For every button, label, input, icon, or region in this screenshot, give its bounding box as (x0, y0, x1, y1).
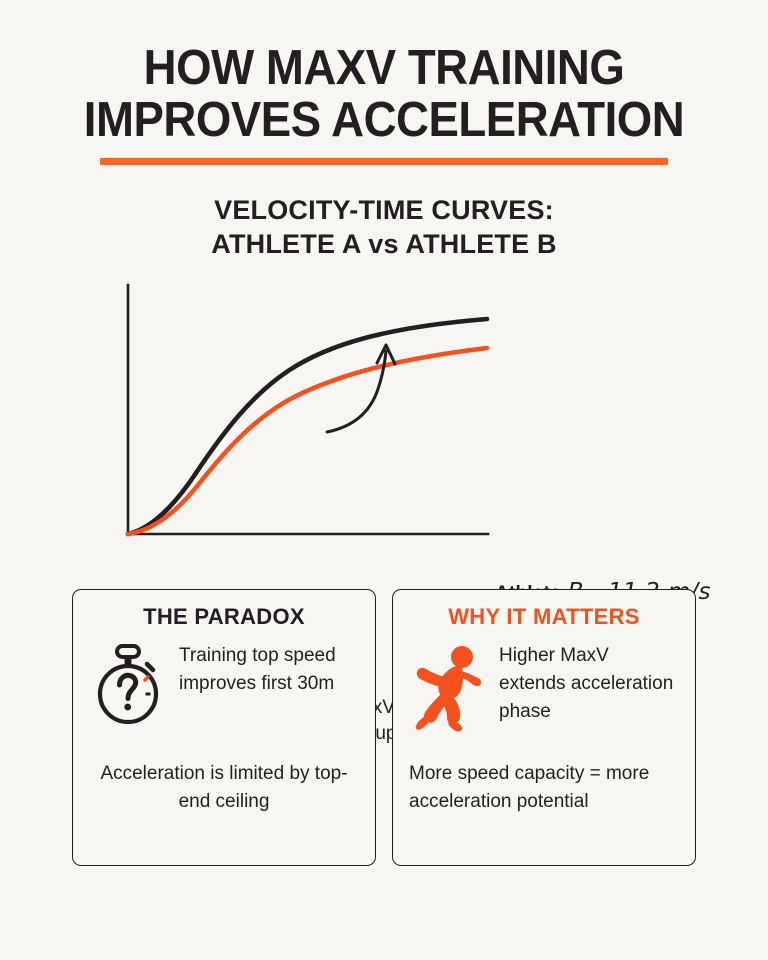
card-why-it-matters-top-text: Higher MaxV extends acceleration phase (499, 640, 679, 726)
card-the-paradox-bottom-text: Acceleration is limited by top-end ceili… (89, 760, 359, 816)
subtitle-athlete-a: ATHLETE A (211, 229, 368, 259)
chart-subtitle: VELOCITY-TIME CURVES: ATHLETE A vs ATHLE… (0, 193, 768, 261)
annotation-arrow-icon (327, 345, 395, 432)
velocity-time-chart: VELOCITY (m/s) Time (seconds) Athlete B … (0, 277, 768, 577)
chart-subtitle-line-1: VELOCITY-TIME CURVES: (0, 193, 768, 227)
page-title-line-1: HOW MAXV TRAINING (27, 42, 741, 94)
card-the-paradox-top-text: Training top speed improves first 30m (179, 640, 359, 698)
chart-canvas (0, 277, 768, 577)
card-why-it-matters-title: WHY IT MATTERS (409, 604, 679, 630)
card-why-it-matters: WHY IT MATTERS (392, 589, 696, 866)
subtitle-athlete-b: ATHLETE B (399, 229, 557, 259)
chart-subtitle-line-2: ATHLETE A vs ATHLETE B (0, 227, 768, 261)
card-the-paradox-title: THE PARADOX (89, 604, 359, 630)
card-the-paradox-top: Training top speed improves first 30m (89, 640, 359, 744)
card-the-paradox: THE PARADOX Tr (72, 589, 376, 866)
title-block: HOW MAXV TRAINING IMPROVES ACCELERATION (0, 0, 768, 165)
athlete-a-curve (128, 348, 487, 534)
runner-icon (409, 640, 487, 732)
page-title-line-2: IMPROVES ACCELERATION (27, 94, 741, 146)
subtitle-vs: vs (368, 229, 398, 259)
card-why-it-matters-bottom-text: More speed capacity = more acceleration … (409, 760, 679, 816)
cards-row: THE PARADOX Tr (72, 589, 696, 866)
stopwatch-question-icon (89, 640, 167, 728)
chart-axes (128, 285, 488, 534)
card-why-it-matters-top: Higher MaxV extends acceleration phase (409, 640, 679, 744)
title-accent-bar (100, 158, 668, 165)
